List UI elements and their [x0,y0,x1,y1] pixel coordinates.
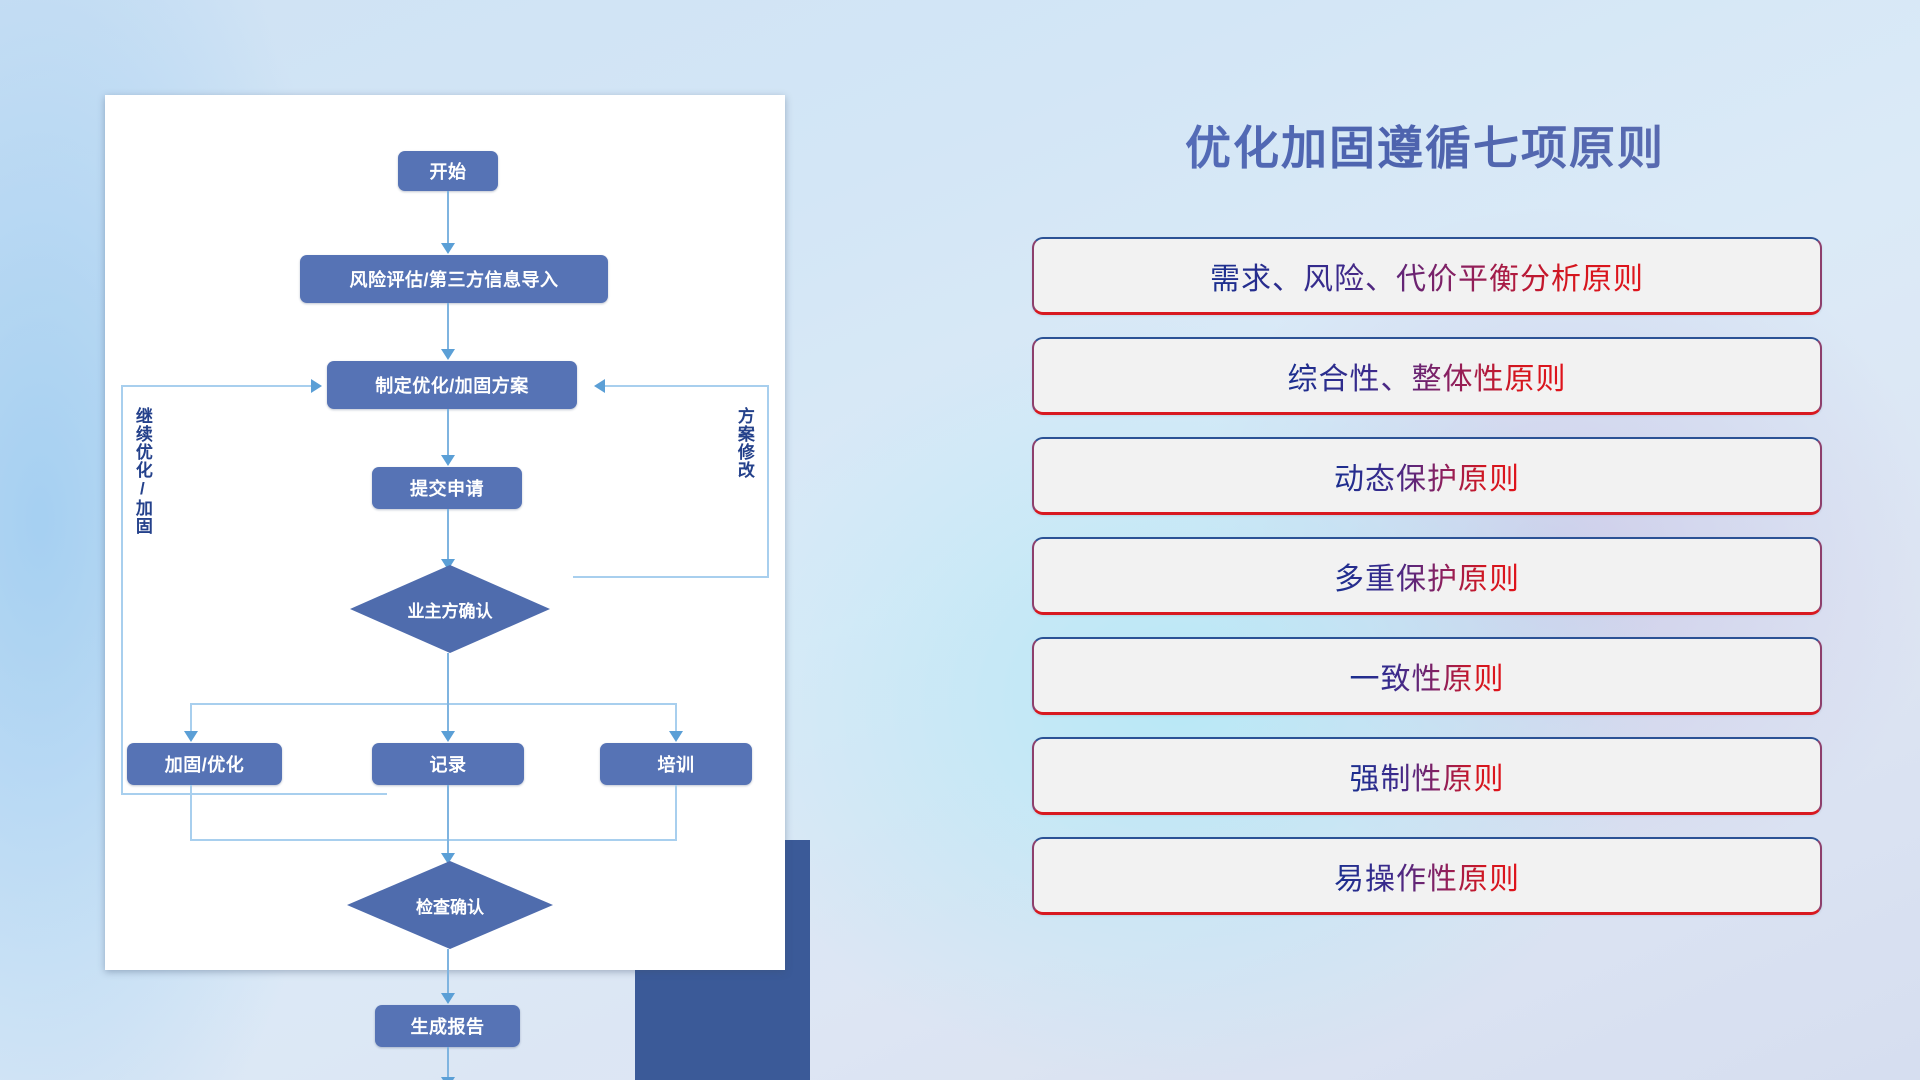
flow-node-report-label: 生成报告 [411,1013,485,1039]
loop-left-label: 继续优化/加固 [133,407,151,583]
split-branch-left [190,703,192,733]
flowchart-panel: 开始 风险评估/第三方信息导入 制定优化/加固方案 继续优化/加固 [105,95,785,970]
principle-item[interactable]: 强制性原则 [1032,737,1822,815]
flow-node-submit[interactable]: 提交申请 [372,467,522,509]
flow-node-reinforce[interactable]: 加固/优化 [127,743,282,785]
flow-node-risk-assessment-label: 风险评估/第三方信息导入 [350,266,559,292]
flow-node-reinforce-label: 加固/优化 [165,751,245,777]
arrowhead-split-left [184,731,198,742]
merge-branch-right [675,785,677,841]
flow-node-start-label: 开始 [430,158,467,184]
principle-label: 易操作性原则 [1334,854,1520,898]
arrowhead-split-right [669,731,683,742]
principle-label: 一致性原则 [1350,654,1505,698]
flow-node-report[interactable]: 生成报告 [375,1005,520,1047]
arrowhead-plan-to-submit [441,455,455,466]
principle-item[interactable]: 多重保护原则 [1032,537,1822,615]
split-branch-right [675,703,677,733]
principles-panel: 优化加固遵循七项原则 需求、风险、代价平衡分析原则 综合性、整体性原则 动态保护… [1010,100,1840,1000]
arrowhead-loop-right-into-plan [594,379,605,393]
flowchart-card: 开始 风险评估/第三方信息导入 制定优化/加固方案 继续优化/加固 [105,95,785,970]
principle-label: 多重保护原则 [1334,554,1520,598]
flow-node-plan-label: 制定优化/加固方案 [375,372,529,398]
merge-horizontal-bus [190,839,677,841]
arrowhead-loop-left-into-plan [311,379,322,393]
principle-label: 综合性、整体性原则 [1288,354,1567,398]
loop-right-top-horizontal [605,385,769,387]
loop-left-bottom-horizontal [121,793,387,795]
split-branch-center [447,703,449,733]
flow-node-risk-assessment[interactable]: 风险评估/第三方信息导入 [300,255,608,303]
loop-right-label: 方案修改 [735,407,753,537]
flow-node-training[interactable]: 培训 [600,743,752,785]
arrowhead-inspect-to-report [441,993,455,1004]
flow-decision-owner-confirm[interactable]: 业主方确认 [350,565,550,653]
flow-node-plan[interactable]: 制定优化/加固方案 [327,361,577,409]
flow-node-start[interactable]: 开始 [398,151,498,191]
principle-item[interactable]: 综合性、整体性原则 [1032,337,1822,415]
flow-node-record[interactable]: 记录 [372,743,524,785]
connector-owner-to-split [447,653,449,705]
principle-item[interactable]: 易操作性原则 [1032,837,1822,915]
flow-decision-inspect-confirm-label: 检查确认 [416,893,484,918]
page-title: 优化加固遵循七项原则 [1010,112,1840,178]
connector-merge-to-inspect [447,785,449,855]
merge-branch-left [190,785,192,841]
loop-right-vertical [767,385,769,577]
connector-risk-to-plan [447,303,449,351]
principle-label: 动态保护原则 [1334,454,1520,498]
slide-canvas: 开始 风险评估/第三方信息导入 制定优化/加固方案 继续优化/加固 [0,0,1920,1080]
principle-label: 需求、风险、代价平衡分析原则 [1210,254,1644,298]
connector-report-to-end [447,1047,449,1079]
loop-right-bottom-horizontal [573,576,769,578]
arrowhead-start-to-risk [441,243,455,254]
arrowhead-split-center [441,731,455,742]
split-horizontal-bus [190,703,677,705]
principle-item[interactable]: 需求、风险、代价平衡分析原则 [1032,237,1822,315]
flow-node-training-label: 培训 [658,751,695,777]
connector-inspect-to-report [447,949,449,995]
flow-node-record-label: 记录 [430,751,467,777]
connector-submit-to-owner [447,509,449,561]
connector-plan-to-submit [447,409,449,457]
arrowhead-risk-to-plan [441,349,455,360]
loop-left-vertical [121,385,123,793]
flow-decision-owner-confirm-label: 业主方确认 [408,597,493,622]
connector-start-to-risk [447,191,449,245]
principles-list: 需求、风险、代价平衡分析原则 综合性、整体性原则 动态保护原则 多重保护原则 一… [1032,237,1822,937]
flow-decision-inspect-confirm[interactable]: 检查确认 [347,861,553,949]
principle-item[interactable]: 动态保护原则 [1032,437,1822,515]
principle-label: 强制性原则 [1350,754,1505,798]
flow-node-submit-label: 提交申请 [410,475,484,501]
principle-item[interactable]: 一致性原则 [1032,637,1822,715]
loop-left-top-horizontal [121,385,313,387]
